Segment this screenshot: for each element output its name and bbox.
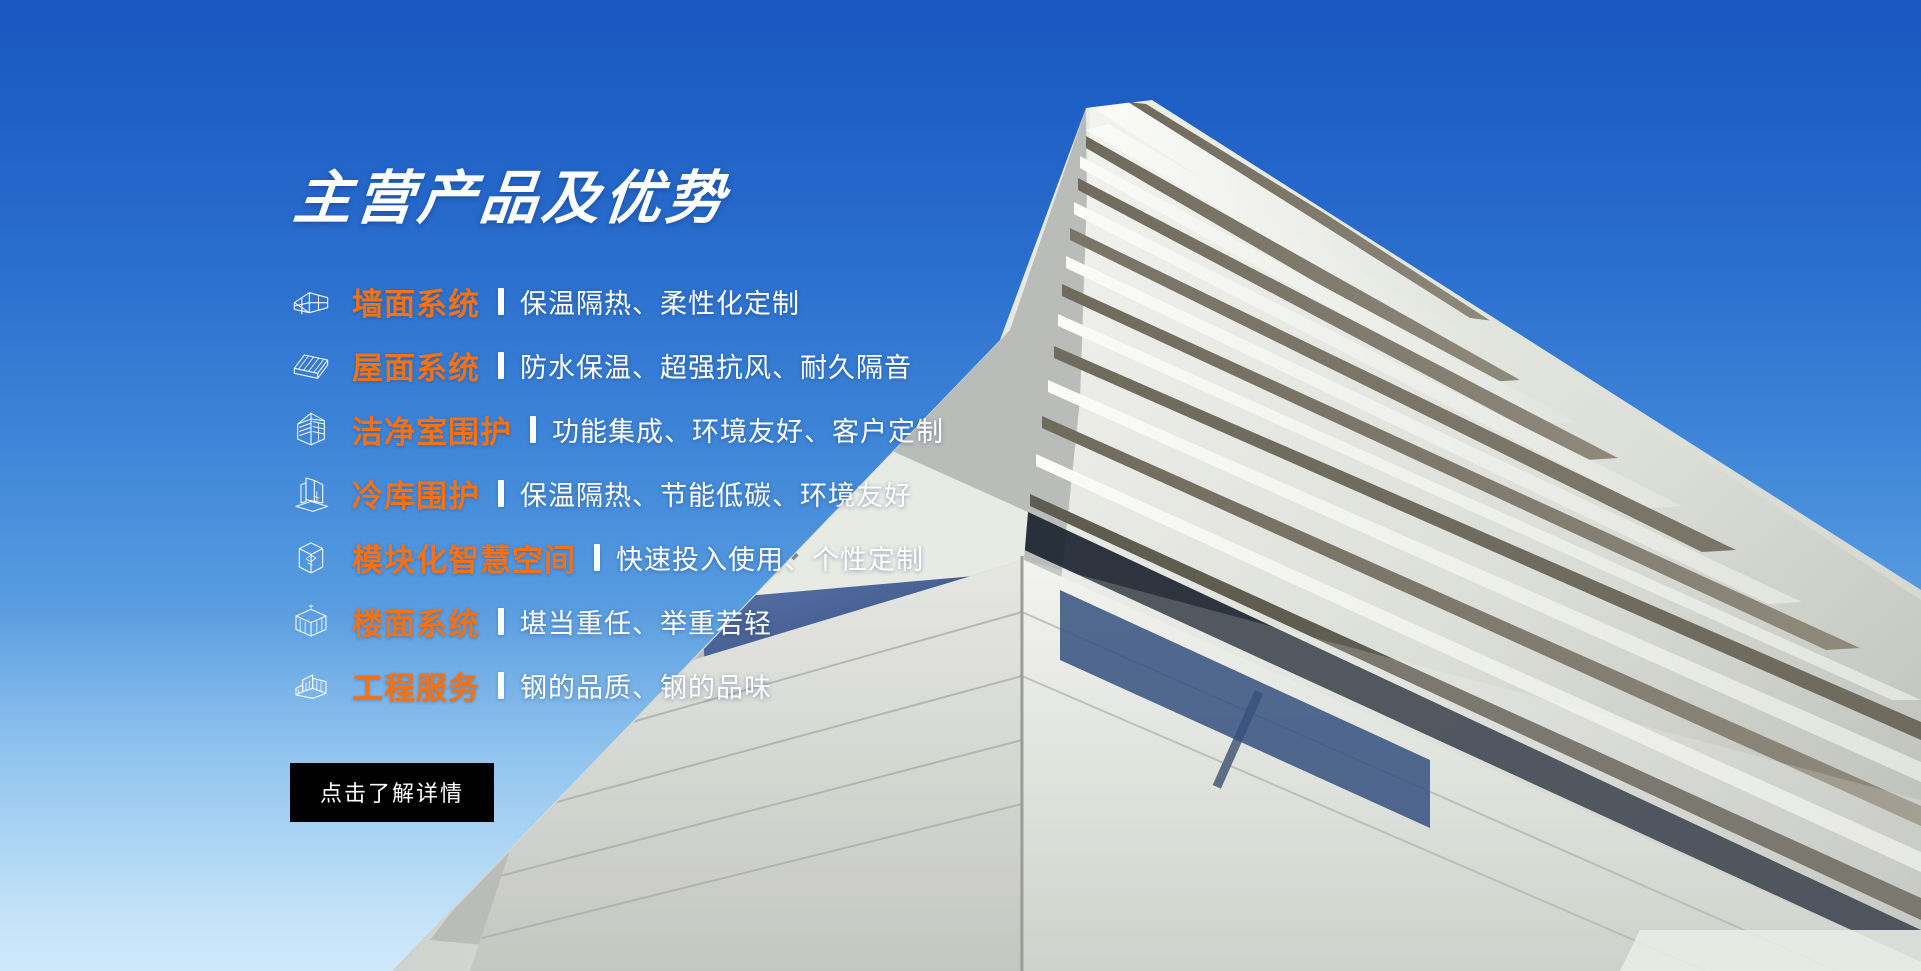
feature-title: 墙面系统 [352, 279, 480, 324]
separator-bar [594, 544, 600, 571]
separator-bar [498, 608, 504, 635]
modular-cube-icon [288, 534, 334, 580]
engineering-service-icon [288, 662, 334, 708]
list-item[interactable]: 楼面系统 堪当重任、举重若轻 [288, 590, 1288, 652]
feature-description: 保温隔热、节能低碳、环境友好 [520, 474, 912, 513]
feature-description: 保温隔热、柔性化定制 [520, 282, 800, 321]
feature-description: 快速投入使用、个性定制 [616, 538, 924, 577]
feature-description: 钢的品质、钢的品味 [520, 666, 772, 705]
cold-storage-icon [288, 470, 334, 516]
feature-description: 防水保温、超强抗风、耐久隔音 [520, 346, 912, 385]
separator-bar [498, 480, 504, 507]
feature-title: 屋面系统 [352, 343, 480, 388]
feature-title: 洁净室围护 [352, 407, 512, 452]
separator-bar [498, 672, 504, 699]
separator-bar [498, 288, 504, 315]
separator-bar [530, 416, 536, 443]
list-item[interactable]: 冷库围护 保温隔热、节能低碳、环境友好 [288, 462, 1288, 524]
list-item[interactable]: 屋面系统 防水保温、超强抗风、耐久隔音 [288, 334, 1288, 396]
feature-title: 工程服务 [352, 663, 480, 708]
hero-banner: 主营产品及优势 墙面系统 保温隔热、柔性化定制 [0, 0, 1921, 971]
separator-bar [498, 352, 504, 379]
feature-description: 功能集成、环境友好、客户定制 [552, 410, 944, 449]
list-item[interactable]: 模块化智慧空间 快速投入使用、个性定制 [288, 526, 1288, 588]
list-item[interactable]: 墙面系统 保温隔热、柔性化定制 [288, 270, 1288, 332]
feature-list: 墙面系统 保温隔热、柔性化定制 屋面系统 [288, 270, 1288, 716]
wall-frame-icon [288, 278, 334, 324]
roof-panel-icon [288, 342, 334, 388]
page-title: 主营产品及优势 [291, 170, 1291, 228]
floor-system-icon [288, 598, 334, 644]
learn-more-button[interactable]: 点击了解详情 [290, 763, 494, 822]
cleanroom-building-icon [288, 406, 334, 452]
list-item[interactable]: 洁净室围护 功能集成、环境友好、客户定制 [288, 398, 1288, 460]
list-item[interactable]: 工程服务 钢的品质、钢的品味 [288, 654, 1288, 716]
feature-title: 冷库围护 [352, 471, 480, 516]
feature-description: 堪当重任、举重若轻 [520, 602, 772, 641]
feature-title: 楼面系统 [352, 599, 480, 644]
hero-content: 主营产品及优势 墙面系统 保温隔热、柔性化定制 [288, 170, 1288, 822]
feature-title: 模块化智慧空间 [352, 535, 576, 580]
